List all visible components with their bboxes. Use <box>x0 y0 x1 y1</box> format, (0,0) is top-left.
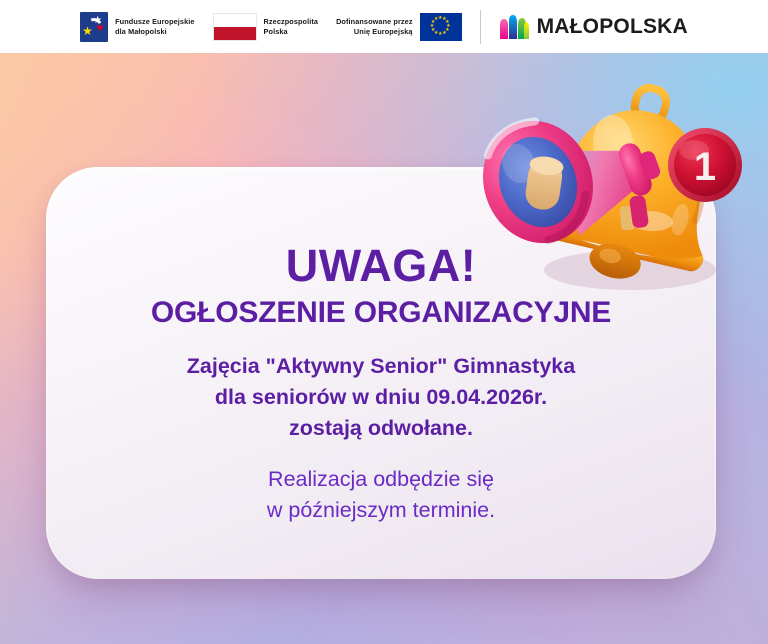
page-title: UWAGA! <box>286 243 476 288</box>
notice-body-line3: zostają odwołane. <box>187 413 575 444</box>
logo-polska-caption: Rzeczpospolita Polska <box>264 17 319 36</box>
logo-fundusze-caption: Fundusze Europejskie dla Małopolski <box>115 17 194 36</box>
fundusze-europejskie-icon: ★ ★ ★ <box>80 12 108 42</box>
logo-fundusze-line2: dla Małopolski <box>115 27 194 37</box>
logo-unia-europejska: Dofinansowane przez Unię Europejską ★★★★… <box>336 13 462 41</box>
notice-body-line1: Zajęcia "Aktywny Senior" Gimnastyka <box>187 351 575 382</box>
polish-flag-icon <box>213 13 257 41</box>
notice-body-line2: dla seniorów w dniu 09.04.2026r. <box>187 382 575 413</box>
notice-card-content: UWAGA! OGŁOSZENIE ORGANIZACYJNE Zajęcia … <box>46 167 716 579</box>
logo-malopolska: MAŁOPOLSKA <box>499 14 688 40</box>
logo-ue-line2: Unię Europejską <box>336 27 413 37</box>
logo-fundusze-line1: Fundusze Europejskie <box>115 17 194 27</box>
eu-flag-icon: ★★★★★★★★★★★★ <box>420 13 462 41</box>
logo-rzeczpospolita-polska: Rzeczpospolita Polska <box>213 13 319 41</box>
page-subtitle: OGŁOSZENIE ORGANIZACYJNE <box>151 297 611 329</box>
malopolska-m-logo-icon <box>499 14 529 40</box>
notice-note-line1: Realizacja odbędzie się <box>267 464 495 495</box>
logo-ue-line1: Dofinansowane przez <box>336 17 413 27</box>
announcement-poster: ★ ★ ★ Fundusze Europejskie dla Małopolsk… <box>0 0 768 644</box>
logo-polska-line1: Rzeczpospolita <box>264 17 319 27</box>
logo-fundusze-europejskie: ★ ★ ★ Fundusze Europejskie dla Małopolsk… <box>80 12 194 42</box>
logo-divider <box>480 10 481 44</box>
notice-note: Realizacja odbędzie się w późniejszym te… <box>267 464 495 526</box>
logo-ue-caption: Dofinansowane przez Unię Europejską <box>336 17 413 36</box>
notice-note-line2: w późniejszym terminie. <box>267 495 495 526</box>
logo-polska-line2: Polska <box>264 27 319 37</box>
notice-body: Zajęcia "Aktywny Senior" Gimnastyka dla … <box>187 351 575 444</box>
malopolska-wordmark: MAŁOPOLSKA <box>537 15 688 39</box>
funding-logo-bar: ★ ★ ★ Fundusze Europejskie dla Małopolsk… <box>0 0 768 53</box>
